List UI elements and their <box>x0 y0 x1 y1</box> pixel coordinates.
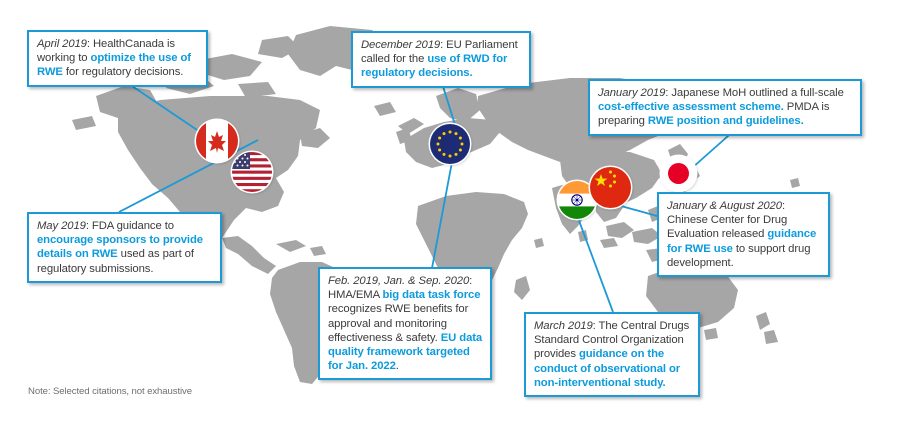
callout-canada[interactable]: April 2019: HealthCanada is working to o… <box>27 30 208 87</box>
callout-china-date: January & August 2020 <box>667 200 782 212</box>
callout-japan-seg-0: : Japanese MoH outlined a full-scale <box>665 87 844 99</box>
callout-hma-ema-date: Feb. 2019, Jan. & Sep. 2020 <box>328 275 469 287</box>
callout-layer: April 2019: HealthCanada is working to o… <box>0 0 900 432</box>
callout-canada-date: April 2019 <box>37 38 87 50</box>
callout-usa[interactable]: May 2019: FDA guidance to encourage spon… <box>27 212 222 283</box>
callout-china[interactable]: January & August 2020: Chinese Center fo… <box>657 192 830 277</box>
callout-hma-ema-seg-1: big data task force <box>382 289 480 301</box>
callout-japan-seg-1: cost-effective assessment scheme. <box>598 101 784 113</box>
callout-japan-seg-3: RWE position and guidelines. <box>648 115 804 127</box>
callout-india-date: March 2019 <box>534 320 593 332</box>
callout-hma-ema[interactable]: Feb. 2019, Jan. & Sep. 2020: HMA/EMA big… <box>318 267 492 380</box>
callout-eu-parliament[interactable]: December 2019: EU Parliament called for … <box>351 31 531 88</box>
callout-usa-seg-0: : FDA guidance to <box>86 220 174 232</box>
callout-japan[interactable]: January 2019: Japanese MoH outlined a fu… <box>588 79 862 136</box>
callout-usa-date: May 2019 <box>37 220 86 232</box>
callout-hma-ema-seg-4: . <box>396 360 399 372</box>
callout-canada-seg-2: for regulatory decisions. <box>63 66 183 78</box>
callout-eu-parliament-date: December 2019 <box>361 39 440 51</box>
callout-japan-date: January 2019 <box>598 87 665 99</box>
infographic-stage: April 2019: HealthCanada is working to o… <box>0 0 900 432</box>
callout-india[interactable]: March 2019: The Central Drugs Standard C… <box>524 312 700 397</box>
